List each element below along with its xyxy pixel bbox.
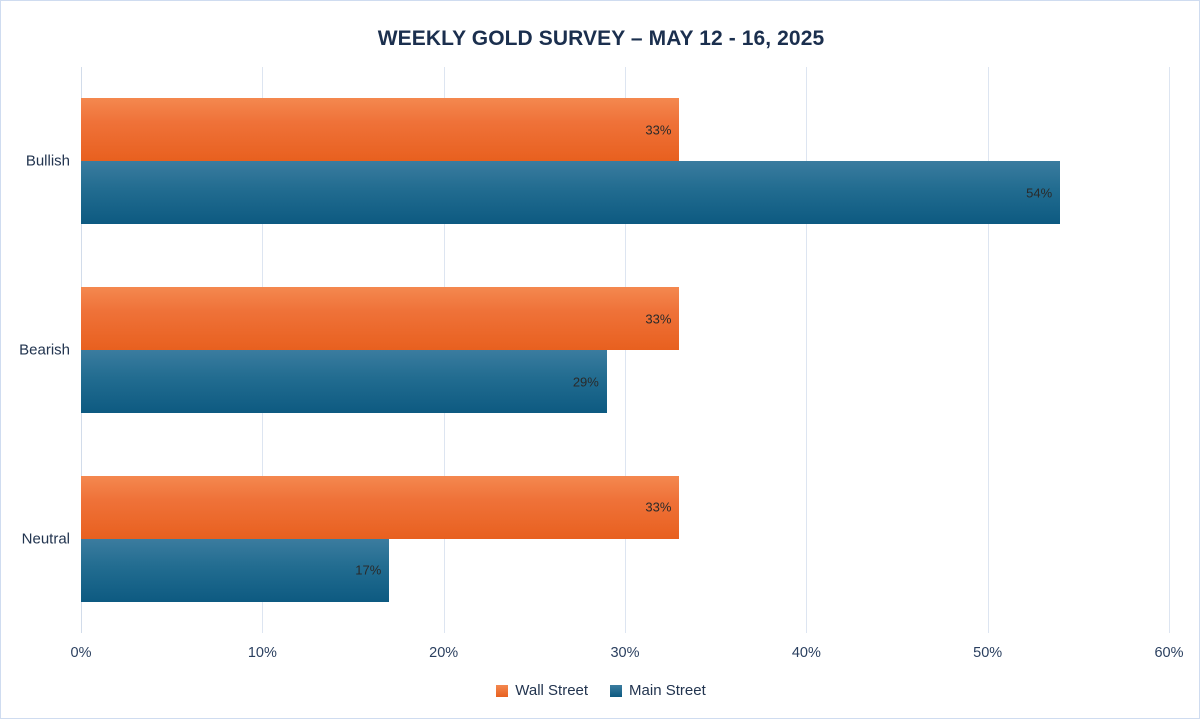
- gridline: [806, 67, 807, 633]
- bar-value-label: 33%: [645, 122, 671, 137]
- legend-label: Main Street: [629, 682, 706, 699]
- bar-bearish-main-street[interactable]: 29%: [81, 350, 607, 413]
- bar-bullish-main-street[interactable]: 54%: [81, 161, 1060, 224]
- gridline: [1169, 67, 1170, 633]
- bar-value-label: 29%: [573, 374, 599, 389]
- x-axis-tick-label: 30%: [610, 645, 639, 661]
- bar-value-label: 33%: [645, 311, 671, 326]
- bar-value-label: 17%: [355, 563, 381, 578]
- bar-bearish-wall-street[interactable]: 33%: [81, 287, 679, 350]
- x-axis-tick-label: 0%: [71, 645, 92, 661]
- gridline: [988, 67, 989, 633]
- legend-item-wall-street[interactable]: Wall Street: [496, 682, 588, 699]
- bar-neutral-main-street[interactable]: 17%: [81, 539, 389, 602]
- bar-bullish-wall-street[interactable]: 33%: [81, 98, 679, 161]
- category-label-bearish: Bearish: [19, 342, 70, 359]
- chart-title: WEEKLY GOLD SURVEY – MAY 12 - 16, 2025: [1, 27, 1200, 51]
- chart-page: WEEKLY GOLD SURVEY – MAY 12 - 16, 2025 3…: [0, 0, 1200, 719]
- legend-swatch-icon: [496, 685, 508, 697]
- bar-neutral-wall-street[interactable]: 33%: [81, 476, 679, 539]
- x-axis-tick-label: 20%: [429, 645, 458, 661]
- legend-swatch-icon: [610, 685, 622, 697]
- category-label-neutral: Neutral: [22, 530, 70, 547]
- legend-label: Wall Street: [515, 682, 588, 699]
- x-axis-tick-label: 40%: [792, 645, 821, 661]
- bar-value-label: 54%: [1026, 185, 1052, 200]
- category-label-bullish: Bullish: [26, 153, 70, 170]
- plot-area: 33%54%33%29%33%17%: [81, 67, 1169, 633]
- legend-item-main-street[interactable]: Main Street: [610, 682, 706, 699]
- bar-value-label: 33%: [645, 500, 671, 515]
- chart-legend: Wall Street Main Street: [1, 682, 1200, 699]
- x-axis-tick-label: 10%: [248, 645, 277, 661]
- x-axis-tick-label: 50%: [973, 645, 1002, 661]
- x-axis-tick-label: 60%: [1154, 645, 1183, 661]
